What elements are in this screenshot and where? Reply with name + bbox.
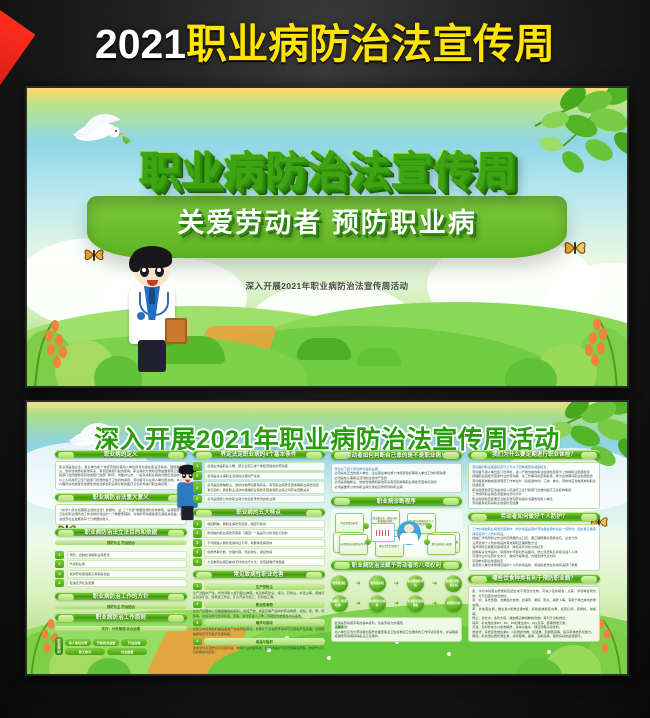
header-year: 2021: [95, 21, 186, 67]
section-item: 必须是国家公布的职业病分类和目录所列的职业病: [335, 485, 459, 489]
section-item: 劳动者离岗前或者调离原工作岗位时（包括退休时）工种、单位、调岗时应当做离岗时职业…: [472, 479, 596, 488]
board-column-3: 劳动者如何判断自己患的是不是职业病！ 符合以下四个条件的才是职业病： 必须是在正…: [331, 450, 463, 642]
list-item: 1生产性粉尘: [193, 583, 325, 590]
item-number: 4: [193, 638, 202, 645]
section-card: 职业病是指企业、事业单位和个体经济组织等用人单位的劳动者在职业活动中，因接触粉尘…: [55, 461, 187, 490]
student-character-icon: [175, 462, 186, 486]
right-node: 职业健康检查权: [407, 575, 424, 592]
section-item: 必须是在正式的用人单位、企业事业单位或个体经济组织等用人单位工作的劳动者: [335, 471, 459, 475]
section-item: 接触职业病危害因素作业的劳动者，在工作期间的定期检查，称为在岗期间职业健康检查: [472, 474, 596, 478]
content-board-panel: 深入开展2021年职业病防治法宣传周活动 职业病的定义 职业病是指企业、事业单位…: [25, 400, 629, 676]
section-heading: 常见致病性职业危害: [193, 570, 325, 578]
item-number: 2: [193, 601, 202, 608]
hazard-body: 在施工中使用的机械设备会产生噪声和振动，长期处于高噪声环境中可引起噪声性耳聋，长…: [193, 627, 325, 636]
item-number: 4: [193, 495, 202, 503]
principles-vertical-label: 防治原则: [55, 637, 63, 656]
right-node: 健康保护权: [369, 575, 386, 592]
principles-block: 防治原则 用人单位负责 行政机关监管 行业自律 职工参与 社会监督: [55, 637, 187, 656]
rights-row: 教育培训权➜ 健康保护权➜ 职业健康检查权➜ 职业病诊断、鉴定权: [331, 575, 463, 592]
board-column-4: 我们为什么要定期进行职业体检？ 劳动者的职业健康检查可分为以下四种类型的健康检查…: [468, 450, 600, 642]
item-number: 3: [193, 481, 202, 494]
hazard-subtitle: 生产性粉尘: [204, 583, 324, 590]
banner-subtitle: 关爱劳动者 预防职业病: [27, 201, 627, 240]
principle-pill: 社会监督: [107, 648, 147, 655]
item-number: 1: [55, 551, 64, 559]
principles-pill-grid: 用人单位负责 行政机关监管 行业自律 职工参与 社会监督: [65, 639, 147, 656]
foliage-right: [501, 282, 629, 388]
right-node: 职业病诊断、鉴定权: [445, 575, 462, 592]
banner-panel: 职业病防治法宣传周 关爱劳动者 预防职业病 深入开展2021年职业病防治法宣传周…: [25, 86, 629, 388]
arrow-icon: ➜: [432, 580, 437, 587]
arrow-icon: ➜: [356, 580, 361, 587]
list-item: 2防治职业病: [55, 560, 187, 568]
numbered-list: 1预防、控制和消除职业病危害 2防治职业病 3保护劳动者健康及其相关权益 4促进…: [55, 549, 187, 588]
item-number: 2: [193, 472, 202, 480]
header-title: 职业病防治法宣传周: [186, 21, 555, 67]
section-paragraph: 《中华人民共和国职业病防治法》的颁布，是“三个代表”重要思想的具体体现，是我国劳…: [59, 508, 183, 521]
item-number: 1: [193, 520, 202, 528]
section-item: 汞、镉：多吃含硒、含果胶的食物，如海带、紫菜、南瓜、胡萝卜等，有助于排出体内的重…: [472, 598, 596, 607]
list-item: 2所接触的职业病危害因素（病因）一般是可以检测和识别的: [193, 529, 325, 537]
right-node: 要求防护设施权: [369, 595, 386, 612]
doctor-avatar-icon: [397, 521, 421, 545]
list-item: 3必须是因接触粉尘、放射性物质和其他有毒、有害职业病危害因素等职业病危害因素引起…: [193, 481, 325, 494]
list-item: 4必须是国家公布的职业病分类和目录所列的职业病: [193, 495, 325, 503]
bush-shape: [357, 348, 401, 366]
board-columns: 职业病的定义 职业病是指企业、事业单位和个体经济组织等用人单位的劳动者在职业活动…: [55, 450, 600, 642]
arrow-icon: ➜: [394, 600, 399, 607]
section-heading: 职业病的定义: [55, 450, 187, 458]
section-heading: 职业病的五大特点: [193, 508, 325, 516]
section-card: 工作中接触职业病危害因素时，防护用品是保护劳动者健康的最后一道防线，因此要正确选…: [468, 524, 600, 571]
hazard-subtitle: 高温与辐射: [204, 638, 324, 645]
section-subbar: 预防为主 防治结合: [55, 540, 187, 545]
list-item: 1病因明确，即职业病危害因素，病因可检测: [193, 520, 325, 528]
item-number: 3: [193, 539, 202, 547]
section-card: 健康是劳动者享有的基本权利，也是劳动力的保障。 温馨提示： 用人单位应当为劳动者…: [331, 617, 463, 642]
item-number: 3: [193, 619, 202, 626]
list-item: 3噪声与振动: [193, 619, 325, 626]
hazard-subtitle: 职业性毒物: [204, 601, 324, 608]
arrow-icon: ➜: [356, 600, 361, 607]
section-card: 《中华人民共和国职业病防治法》的颁布，是“三个代表”重要思想的具体体现，是我国劳…: [55, 504, 187, 524]
list-item: 2职业性毒物: [193, 601, 325, 608]
rights-flow: 教育培训权➜ 健康保护权➜ 职业健康检查权➜ 职业病诊断、鉴定权 知情权（知悉危…: [331, 575, 463, 612]
section-note: 工作中接触职业病危害因素时，防护用品是保护劳动者健康的最后一道防线，因此要正确选…: [472, 527, 596, 536]
diagram-node: 职业病报告与处理: [427, 534, 456, 555]
section-heading: 职业病防治工作原则: [55, 613, 187, 621]
rights-footer-body: 用人单位应当为劳动者创造符合国家职业卫生标准和卫生要求的工作环境和条件，并采取措…: [335, 630, 459, 639]
arrow-icon: ➜: [432, 600, 437, 607]
list-item: 4高温与辐射: [193, 638, 325, 645]
principle-pill: 行政机关监管: [93, 639, 119, 646]
banner-main-title: 职业病防治法宣传周: [27, 136, 627, 196]
principle-pill: 职工参与: [65, 648, 105, 655]
section-item: 振动：补充蛋白质和维生素，多吃瘦肉、鱼类、豆制品等，保持良好的血液循环。: [472, 634, 596, 638]
item-number: 4: [193, 548, 202, 556]
section-heading: 职业病防治法重大意义: [55, 493, 187, 501]
section-subbar: 预防为主 防治结合: [55, 604, 187, 609]
section-card: 符合以下四个条件的才是职业病： 必须是在正式的用人单位、企业事业单位或个体经济组…: [331, 463, 463, 492]
principle-pill: 用人单位负责: [65, 639, 91, 646]
section-heading: 职业病诊断程序: [331, 496, 463, 506]
arrow-icon: ➜: [394, 580, 399, 587]
section-item: 劳动者有权获得职业健康检查结果: [472, 501, 596, 505]
doctor-eye: [140, 266, 149, 277]
section-heading: 界定法定职业病的4个基本条件: [193, 450, 325, 458]
hazard-subtitle: 噪声与振动: [204, 619, 324, 626]
section-item: 苯：补充蛋白质、维生素C和维生素B族，多吃新鲜蔬菜水果，如西红柿、猕猴桃、柑橘等…: [472, 607, 596, 616]
doctor-eye: [155, 266, 164, 277]
section-subbar: 实行：分类管理 综合治理: [55, 626, 187, 631]
banner-tagline: 深入开展2021年职业病防治法宣传周活动: [27, 280, 627, 292]
diagram-node: 劳动者提出申请: [335, 513, 364, 534]
right-node: 检举控告权: [445, 595, 462, 612]
item-number: 1: [193, 583, 202, 590]
section-paragraph: 职业病是指企业、事业单位和个体经济组织等用人单位的劳动者在职业活动中，因接触粉尘…: [59, 465, 183, 487]
item-number: 2: [55, 560, 64, 568]
section-card: 劳动者的职业健康检查可分为以下四种类型的健康检查： 劳动者与用人单位签订合同时，…: [468, 462, 600, 509]
list-item: 1预防、控制和消除职业病危害: [55, 551, 187, 559]
diagnosis-flow-diagram: 劳动者提出申请 提交职业史、职业病危害接触史材料 提交职业健康检查与工作场所检测…: [331, 509, 463, 557]
section-heading: 哪些饮食种类有利于预防职业病？: [468, 574, 600, 583]
right-node: 教育培训权: [331, 575, 348, 592]
hazard-list: 1生产性粉尘 生产过程中产生，长时间吸入能引起尘肺病。常见的有矽尘、煤尘、石棉尘…: [193, 581, 325, 654]
list-item: 4如能早期诊断，合理处理，预后较好，康复较易: [193, 548, 325, 556]
section-note: 铅：牛奶中的蛋白质能和铅结合成不溶性化合物，可减少铅的吸收；大蒜、洋葱等含硫化物…: [472, 589, 596, 598]
numbered-list: 1患病主体是职业人群，即企业职工或个体经济组织的劳动者 2必须是在从事职业活动的…: [193, 461, 325, 505]
hazard-body: 在生产过程中，可能接触到的原料、中间产物、成品及副产品中的有毒物质，如铅、汞、苯…: [193, 609, 325, 618]
butterfly-icon: [563, 238, 587, 263]
section-heading: 劳动者如何判断自己患的是不是职业病！: [331, 450, 463, 460]
rights-row: 知情权（知悉危害）➜ 要求防护设施权➜ 职业病待遇保障权➜ 检举控告权: [331, 595, 463, 612]
item-number: 4: [55, 579, 64, 587]
hazard-body: 生产过程中产生，长时间吸入能引起尘肺病。常见的有矽尘、煤尘、石棉尘、水泥尘等，接…: [193, 591, 325, 600]
list-item: 5大多数职业病目前尚无特效治疗方法，发现越晚疗效越差: [193, 558, 325, 566]
section-heading: 职业病防治法立法目的和依据: [55, 528, 187, 536]
item-number: 1: [193, 462, 202, 470]
section-card: 铅：牛奶中的蛋白质能和铅结合成不溶性化合物，可减少铅的吸收；大蒜、洋葱等含硫化物…: [468, 586, 600, 642]
list-item: 4促进经济社会发展: [55, 579, 187, 587]
right-node: 职业病待遇保障权: [407, 595, 424, 612]
right-node: 知情权（知悉危害）: [331, 595, 348, 612]
list-item: 3不同接触人群的发病特征不同，有群体发病倾向: [193, 539, 325, 547]
bush-shape: [297, 338, 351, 360]
item-number: 3: [55, 570, 64, 578]
poster-stage: 2021职业病防治法宣传周: [0, 0, 650, 718]
list-item: 3保护劳动者健康及其相关权益: [55, 570, 187, 578]
section-item: 发现用人单位未按规定提供个人防护用品的，有权拒绝作业并向有关部门举报: [472, 563, 596, 567]
clipboard-icon: [165, 318, 187, 344]
monitor-icon: [371, 523, 395, 542]
section-heading: 劳动者如何做好个人防护？: [468, 512, 600, 521]
section-heading: 我们为什么要定期进行职业体检？: [468, 450, 600, 459]
list-item: 2必须是在从事职业活动的过程中产生的: [193, 472, 325, 480]
board-column-1: 职业病的定义 职业病是指企业、事业单位和个体经济组织等用人单位的劳动者在职业活动…: [55, 450, 187, 642]
hazard-body: 夏季室外高温作业可引起中暑，电焊作业的紫外线、红外线辐射可损伤眼睛和皮肤，放射作…: [193, 646, 325, 655]
principle-pill: 行业自律: [121, 639, 147, 646]
poster-header: 2021职业病防治法宣传周: [0, 14, 650, 74]
board-column-2: 界定法定职业病的4个基本条件 1患病主体是职业人群，即企业职工或个体经济组织的劳…: [193, 450, 325, 642]
stethoscope-bell-icon: [137, 312, 145, 320]
item-number: 5: [193, 558, 202, 566]
list-item: 1患病主体是职业人群，即企业职工或个体经济组织的劳动者: [193, 462, 325, 470]
section-heading: 职业病防治法赋予劳动者的八项权利: [331, 560, 463, 570]
section-heading: 职业病防治工作的方针: [55, 592, 187, 600]
diagram-center: [365, 520, 427, 546]
doctor-character-icon: [125, 240, 185, 375]
item-number: 2: [193, 529, 202, 537]
character-eye: [182, 473, 186, 478]
numbered-list: 1病因明确，即职业病危害因素，病因可检测 2所接触的职业病危害因素（病因）一般是…: [193, 519, 325, 568]
character-legs: [181, 506, 193, 520]
doctor-legs: [138, 340, 166, 372]
diagram-node: 出具职业病诊断证明书: [339, 534, 368, 555]
